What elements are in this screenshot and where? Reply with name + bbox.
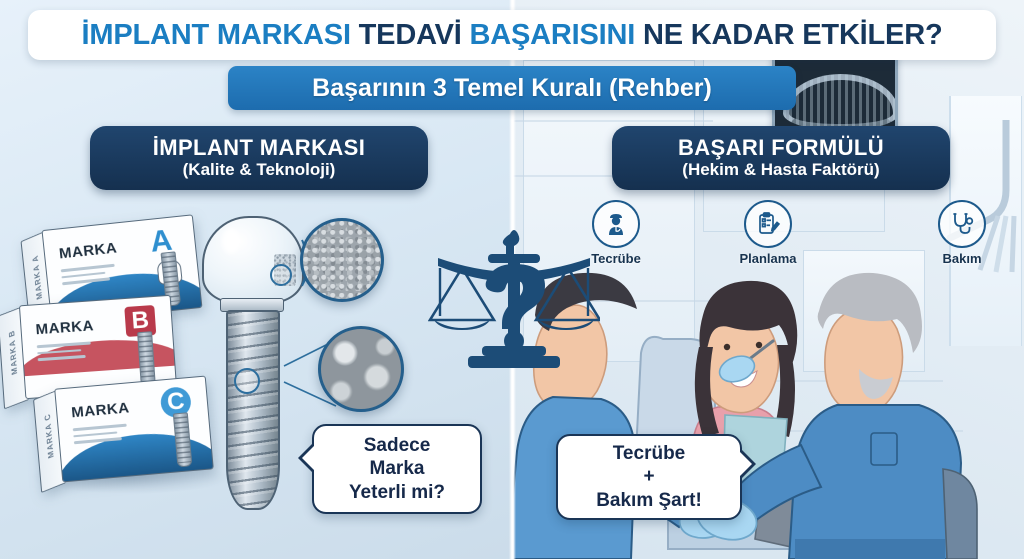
product-box-marka-c: MARKA C MARKA C <box>54 376 214 483</box>
left-bubble-text: Sadece Marka Yeterli mi? <box>349 434 445 504</box>
title-part-2: TEDAVİ <box>351 19 470 51</box>
main-title-bar: İMPLANT MARKASI TEDAVİ BAŞARISINI NE KAD… <box>28 10 996 60</box>
box-brand-b: MARKA <box>35 317 94 338</box>
subtitle-text: Başarının 3 Temel Kuralı (Rehber) <box>312 74 712 103</box>
right-section-title: BAŞARI FORMÜLÜ <box>678 136 884 159</box>
title-part-4: NE KADAR ETKİLER? <box>635 19 942 51</box>
question-mark-icon <box>486 264 545 351</box>
clipboard-icon <box>744 200 792 248</box>
stethoscope-icon <box>938 200 986 248</box>
feature-item-tecrube[interactable]: Tecrübe <box>574 200 658 266</box>
left-speech-bubble: Sadece Marka Yeterli mi? <box>312 424 482 514</box>
title-part-1: İMPLANT MARKASI <box>82 19 351 51</box>
infographic-canvas: İMPLANT MARKASI TEDAVİ BAŞARISINI NE KAD… <box>0 0 1024 559</box>
feature-label-tecrube: Tecrübe <box>574 251 658 266</box>
page-title: İMPLANT MARKASI TEDAVİ BAŞARISINI NE KAD… <box>82 19 943 52</box>
title-part-3: BAŞARISINI <box>470 19 636 51</box>
box-brand-a: MARKA <box>58 239 118 262</box>
left-section-title: İMPLANT MARKASI <box>153 136 366 159</box>
zoom-surface-texture-osseo <box>318 326 404 412</box>
feature-item-planlama[interactable]: Planlama <box>726 200 810 266</box>
box-face-c: MARKA C <box>54 376 214 483</box>
right-section-subtitle: (Hekim & Hasta Faktörü) <box>682 159 879 180</box>
box-spine-label-a: MARKA A <box>30 245 45 310</box>
doctor-icon <box>592 200 640 248</box>
zoom-surface-texture-rough <box>300 218 384 302</box>
left-section-header: İMPLANT MARKASI (Kalite & Teknoloji) <box>90 126 428 190</box>
right-speech-bubble: Tecrübe + Bakım Şart! <box>556 434 742 520</box>
left-section-subtitle: (Kalite & Teknoloji) <box>183 159 336 180</box>
right-section-header: BAŞARI FORMÜLÜ (Hekim & Hasta Faktörü) <box>612 126 950 190</box>
box-text-lines-b <box>37 342 92 365</box>
right-bubble-text: Tecrübe + Bakım Şart! <box>596 442 702 512</box>
box-spine-label-c: MARKA C <box>42 403 56 468</box>
box-implant-icon-b <box>137 331 156 386</box>
feature-label-planlama: Planlama <box>726 251 810 266</box>
box-spine-label-b: MARKA B <box>7 320 20 385</box>
feature-item-bakim[interactable]: Bakım <box>920 200 1004 266</box>
box-brand-c: MARKA <box>71 399 131 421</box>
subtitle-bar: Başarının 3 Temel Kuralı (Rehber) <box>228 66 796 110</box>
feature-label-bakim: Bakım <box>920 251 1004 266</box>
